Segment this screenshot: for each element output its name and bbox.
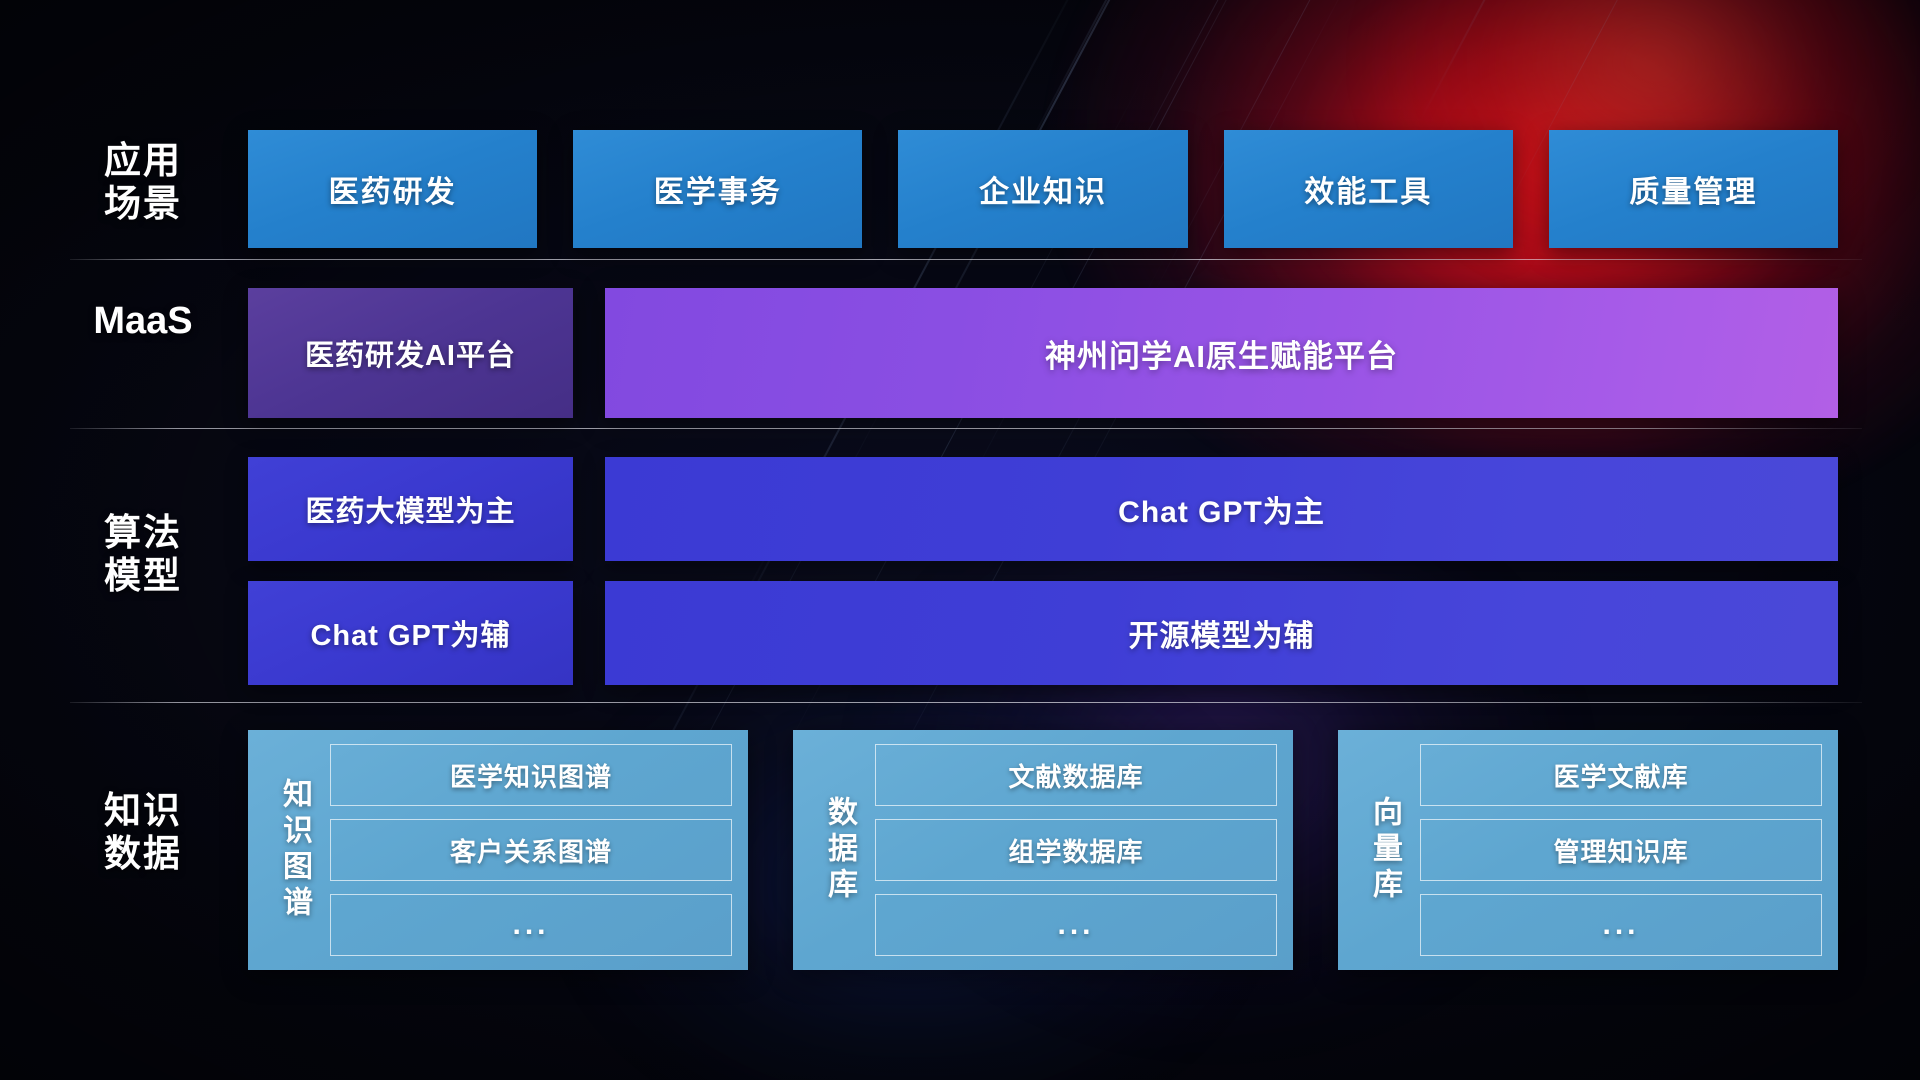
knowledge-item-2-2[interactable]: 组学数据库 [875, 819, 1277, 881]
knowledge-data-row: 知识图谱 医学知识图谱 客户关系图谱 ... 数据库 文献数据库 组学数据库 .… [248, 730, 1838, 970]
app-scenario-box-1[interactable]: 医药研发 [248, 130, 537, 248]
algorithm-primary-right-box[interactable]: Chat GPT为主 [605, 457, 1838, 561]
algorithm-model-row: 医药大模型为主 Chat GPT为主 Chat GPT为辅 开源模型为辅 [248, 457, 1838, 685]
knowledge-panel-knowledge-graph[interactable]: 知识图谱 医学知识图谱 客户关系图谱 ... [248, 730, 748, 970]
knowledge-panel-title-3: 向量库 [1348, 744, 1420, 956]
knowledge-panel-title-1: 知识图谱 [258, 744, 330, 956]
knowledge-item-1-1[interactable]: 医学知识图谱 [330, 744, 732, 806]
knowledge-item-1-2[interactable]: 客户关系图谱 [330, 819, 732, 881]
application-scenario-row: 医药研发 医学事务 企业知识 效能工具 质量管理 [248, 130, 1838, 248]
knowledge-item-1-3[interactable]: ... [330, 894, 732, 956]
knowledge-item-3-1[interactable]: 医学文献库 [1420, 744, 1822, 806]
section-divider-1 [70, 259, 1862, 260]
knowledge-item-3-3[interactable]: ... [1420, 894, 1822, 956]
app-scenario-box-4[interactable]: 效能工具 [1224, 130, 1513, 248]
row-label-knowledge-data: 知识数据 [58, 790, 228, 875]
algorithm-subrow-secondary: Chat GPT为辅 开源模型为辅 [248, 581, 1838, 685]
maas-native-platform-bar[interactable]: 神州问学AI原生赋能平台 [605, 288, 1838, 418]
row-label-application-scenario: 应用场景 [58, 140, 228, 225]
row-label-algorithm-model: 算法模型 [58, 512, 228, 597]
algorithm-primary-left-box[interactable]: 医药大模型为主 [248, 457, 573, 561]
app-scenario-box-5[interactable]: 质量管理 [1549, 130, 1838, 248]
app-scenario-box-2[interactable]: 医学事务 [573, 130, 862, 248]
knowledge-item-2-1[interactable]: 文献数据库 [875, 744, 1277, 806]
app-scenario-box-3[interactable]: 企业知识 [898, 130, 1187, 248]
knowledge-panel-vector-store[interactable]: 向量库 医学文献库 管理知识库 ... [1338, 730, 1838, 970]
row-label-maas: MaaS [58, 300, 228, 344]
knowledge-item-3-2[interactable]: 管理知识库 [1420, 819, 1822, 881]
maas-platform-box[interactable]: 医药研发AI平台 [248, 288, 573, 418]
knowledge-panel-items-1: 医学知识图谱 客户关系图谱 ... [330, 744, 732, 956]
knowledge-panel-database[interactable]: 数据库 文献数据库 组学数据库 ... [793, 730, 1293, 970]
knowledge-panel-items-2: 文献数据库 组学数据库 ... [875, 744, 1277, 956]
section-divider-3 [70, 702, 1862, 703]
knowledge-panel-items-3: 医学文献库 管理知识库 ... [1420, 744, 1822, 956]
knowledge-item-2-3[interactable]: ... [875, 894, 1277, 956]
section-divider-2 [70, 428, 1862, 429]
algorithm-secondary-right-box[interactable]: 开源模型为辅 [605, 581, 1838, 685]
knowledge-panel-title-2: 数据库 [803, 744, 875, 956]
architecture-diagram: 应用场景 医药研发 医学事务 企业知识 效能工具 质量管理 MaaS 医药研发A… [0, 0, 1920, 1080]
algorithm-subrow-primary: 医药大模型为主 Chat GPT为主 [248, 457, 1838, 561]
maas-row: 医药研发AI平台 神州问学AI原生赋能平台 [248, 288, 1838, 418]
algorithm-secondary-left-box[interactable]: Chat GPT为辅 [248, 581, 573, 685]
